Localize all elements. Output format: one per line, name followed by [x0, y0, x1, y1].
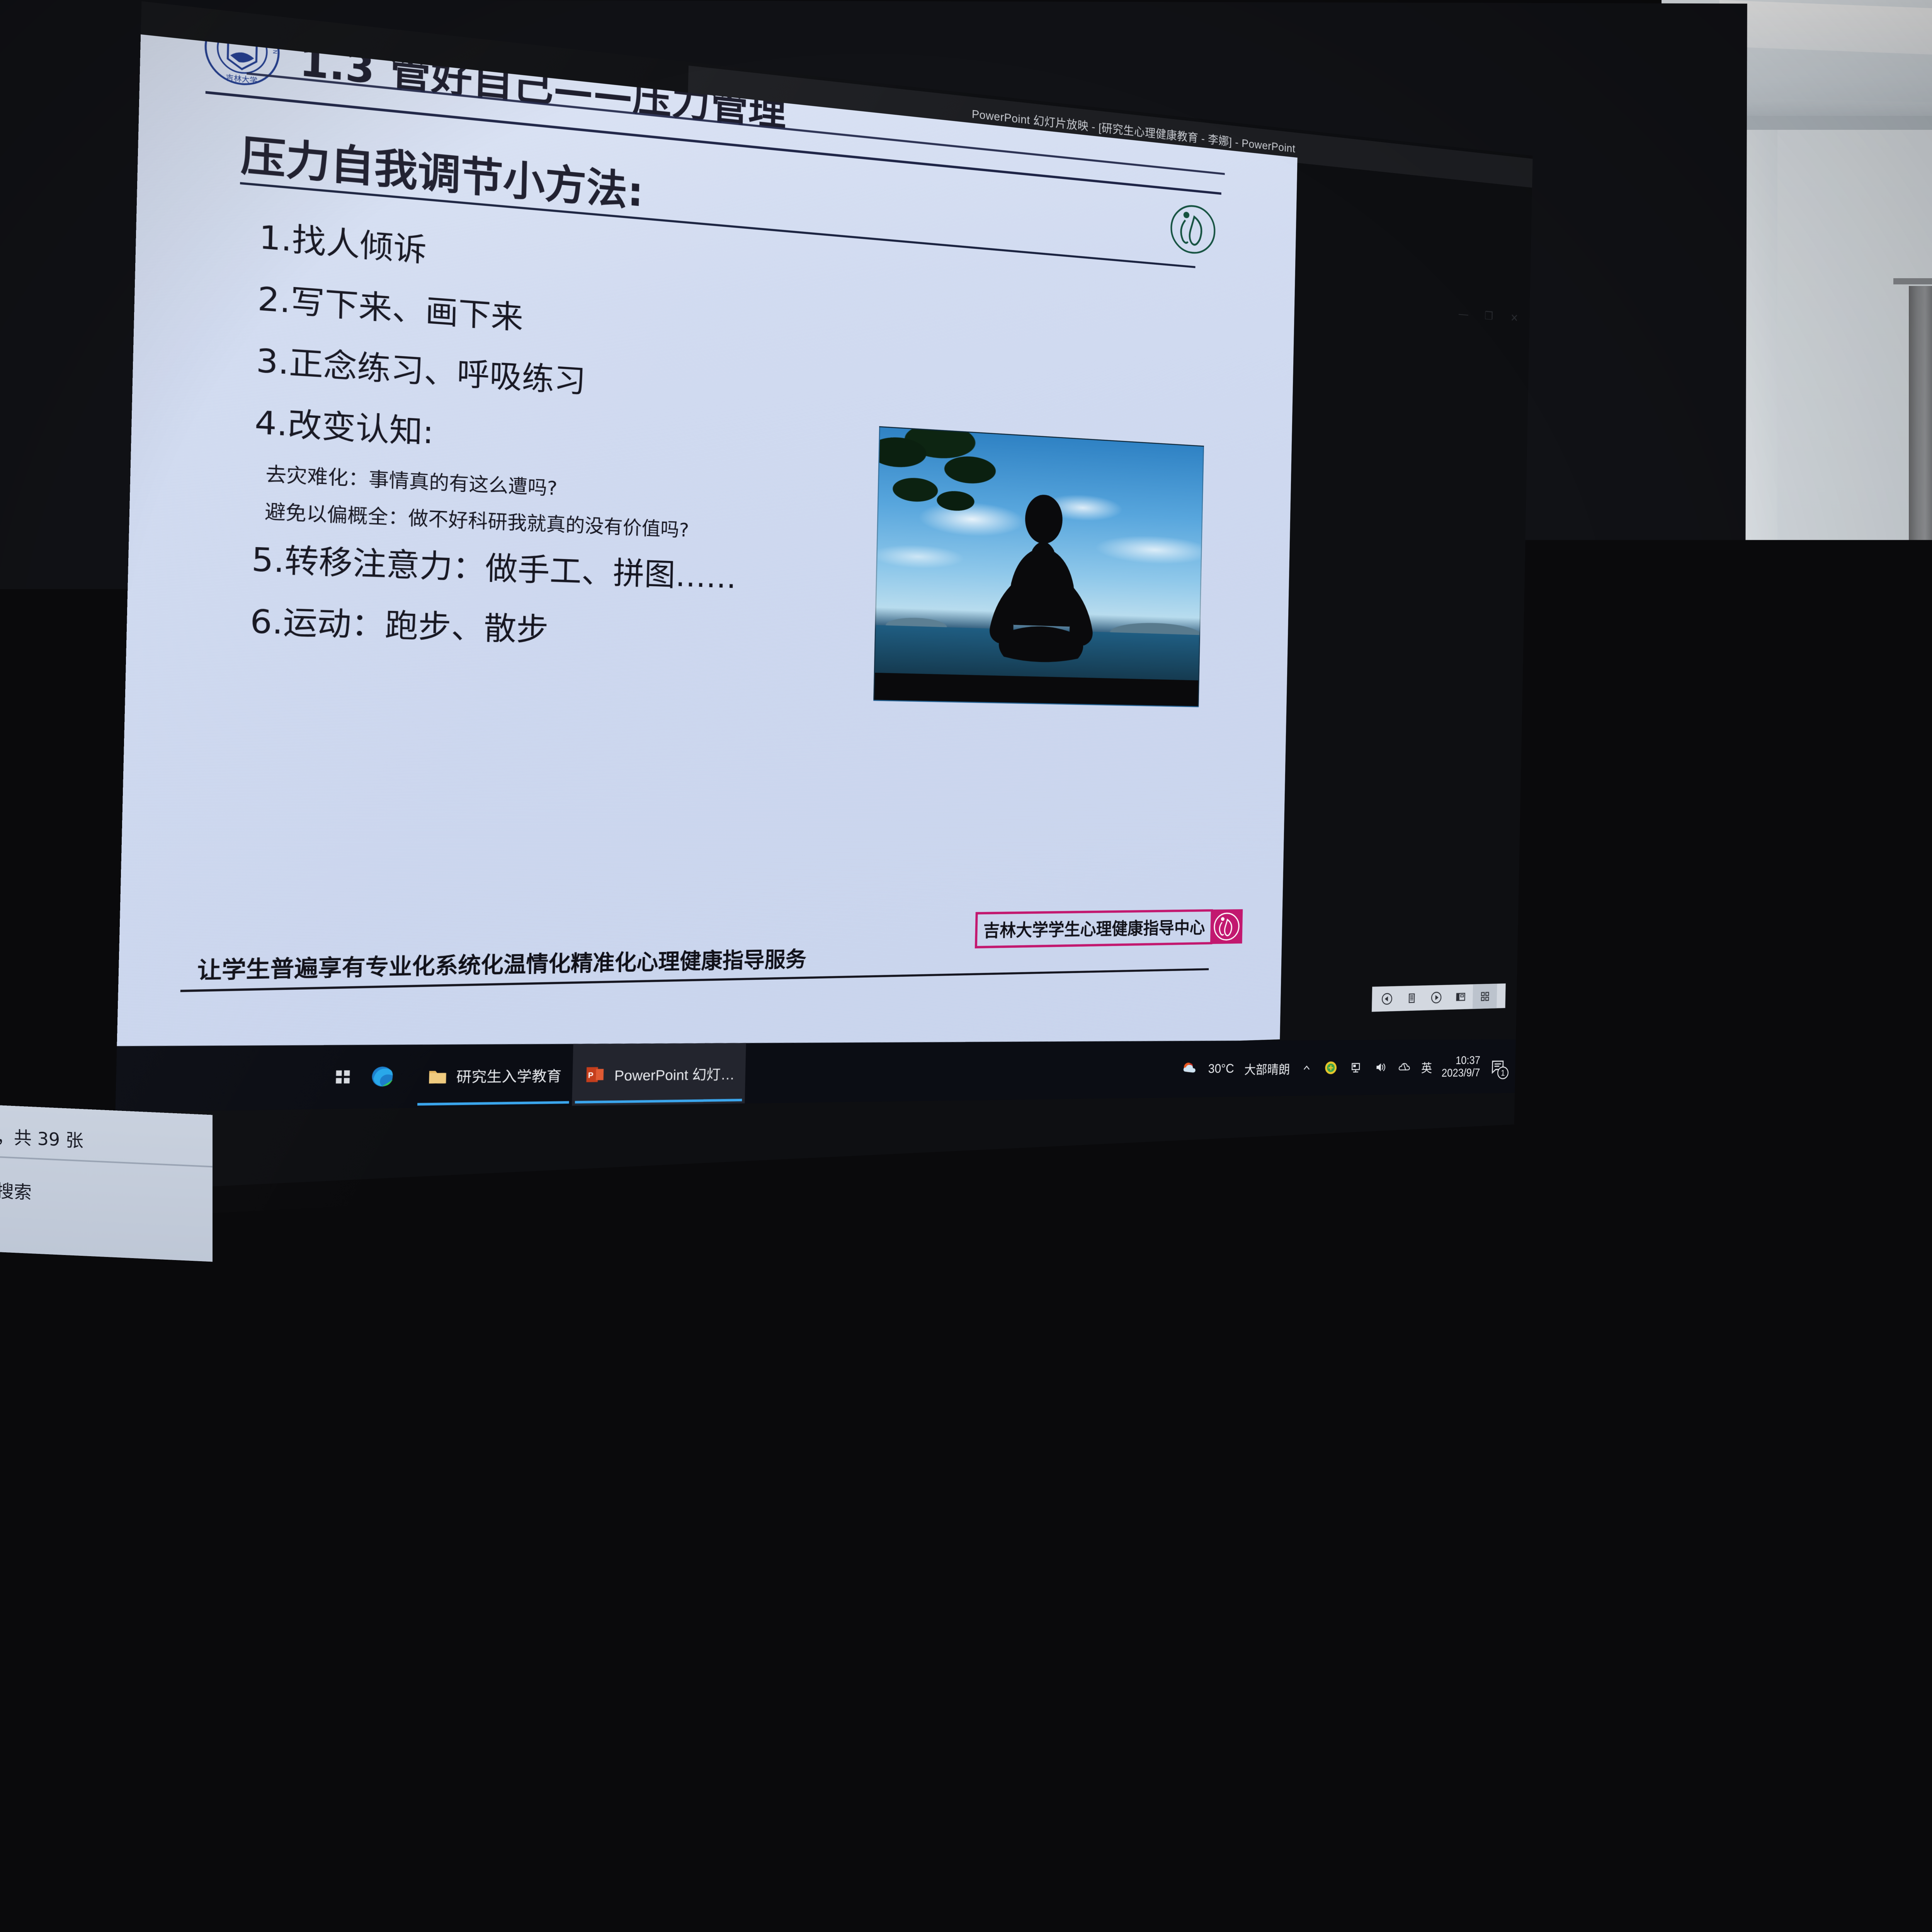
folder-icon [426, 1066, 448, 1087]
presenter-lower-body [1928, 935, 1932, 1051]
presenter [1893, 641, 1932, 1167]
center-badge-mark [1211, 909, 1243, 944]
floor-seam [0, 1291, 1932, 1293]
pen-tools-button[interactable] [1399, 986, 1424, 1011]
slideshow-control-toolbar[interactable] [1372, 983, 1506, 1012]
presenter-view-icon [1454, 990, 1467, 1004]
weather-description: 大部晴朗 [1244, 1059, 1290, 1078]
next-slide-button[interactable] [1424, 985, 1449, 1010]
ime-indicator[interactable]: 英 [1421, 1058, 1432, 1076]
chevron-up-icon[interactable] [1300, 1061, 1313, 1075]
jilin-university-seal-icon: 1946 JILIN UNIVERSITY · CHINA 吉林大学 [202, 34, 283, 91]
window-controls: — ❐ ✕ [1459, 308, 1519, 324]
taskbar-label-folder: 研究生入学教育 [456, 1065, 561, 1087]
search-label: 搜索 [0, 1177, 32, 1204]
taskbar-active-underline [575, 1099, 742, 1104]
slide-thumbnail-preview[interactable] [247, 1131, 325, 1192]
taskbar-item-powerpoint[interactable]: P PowerPoint 幻灯… [572, 1043, 746, 1105]
meditating-person-silhouette [971, 489, 1113, 684]
presenter-view-strip[interactable]: ，共 39 张 搜索 [0, 1105, 213, 1262]
projected-desktop: PowerPoint 幻灯片放映 - [研究生心理健康教育 - 李娜] - Po… [114, 1, 1533, 1191]
minimize-icon[interactable]: — [1459, 308, 1467, 320]
edge-icon [370, 1065, 395, 1089]
pen-tools-icon [1405, 991, 1418, 1005]
windows-taskbar[interactable]: 研究生入学教育 P PowerPoint 幻灯… [115, 1039, 1515, 1112]
svg-text:1946: 1946 [236, 35, 248, 42]
taskbar-active-underline [417, 1101, 569, 1106]
presenter-blouse [1917, 738, 1932, 954]
slide-count-label: ，共 39 张 [0, 1123, 83, 1152]
next-slide-icon [1430, 990, 1443, 1005]
powerpoint-slideshow-window: PowerPoint 幻灯片放映 - [研究生心理健康教育 - 李娜] - Po… [114, 1, 1533, 1191]
previous-slide-icon [1381, 992, 1394, 1006]
meditation-photo [873, 426, 1204, 707]
svg-text:P: P [588, 1071, 594, 1080]
psychology-center-logo-icon [1168, 201, 1218, 258]
slide-canvas[interactable]: 1946 JILIN UNIVERSITY · CHINA 吉林大学 1.3 管… [116, 34, 1298, 1077]
clock-date: 2023/9/7 [1442, 1066, 1480, 1079]
presenter-view-button[interactable] [1448, 985, 1473, 1009]
restore-icon[interactable]: ❐ [1485, 310, 1493, 322]
weather-icon [1182, 1060, 1198, 1078]
screen-perspective-wrapper: PowerPoint 幻灯片放映 - [研究生心理健康教育 - 李娜] - Po… [0, 0, 1754, 1217]
clock-time: 10:37 [1456, 1054, 1480, 1067]
previous-slide-button[interactable] [1374, 986, 1400, 1012]
weather-temperature: 30°C [1208, 1061, 1234, 1076]
taskbar-item-edge[interactable] [357, 1045, 416, 1109]
windows-start-icon [331, 1066, 354, 1088]
volume-icon[interactable] [1372, 1059, 1387, 1075]
onedrive-icon[interactable] [1397, 1059, 1412, 1075]
notification-center-button[interactable]: 1 [1490, 1057, 1506, 1076]
lecture-room-scene: PowerPoint 幻灯片放映 - [研究生心理健康教育 - 李娜] - Po… [0, 0, 1932, 1546]
system-tray[interactable]: 30°C 大部晴朗 [1181, 1039, 1516, 1098]
close-icon[interactable]: ✕ [1510, 313, 1519, 324]
slide-subtitle: 压力自我调节小方法: [240, 121, 644, 218]
security-shield-icon[interactable] [1323, 1059, 1338, 1076]
taskbar-clock[interactable]: 10:37 2023/9/7 [1442, 1054, 1481, 1079]
network-icon[interactable] [1348, 1060, 1363, 1076]
curtain-rod [1893, 278, 1932, 284]
psychology-logo-small-icon [1212, 910, 1242, 942]
start-button[interactable] [327, 1062, 359, 1092]
psychology-center-badge: 吉林大学学生心理健康指导中心 [975, 909, 1243, 948]
presenter-strip-divider [0, 1156, 213, 1167]
list-item: 6.运动：跑步、散步 [250, 595, 978, 661]
taskbar-item-folder[interactable]: 研究生入学教育 [414, 1044, 573, 1108]
taskbar-label-powerpoint: PowerPoint 幻灯… [614, 1063, 735, 1085]
notification-badge: 1 [1497, 1066, 1509, 1079]
center-badge-text: 吉林大学学生心理健康指导中心 [975, 909, 1213, 948]
all-slides-grid-button[interactable] [1473, 984, 1497, 1009]
all-slides-grid-icon [1478, 989, 1491, 1003]
powerpoint-icon: P [583, 1063, 607, 1086]
